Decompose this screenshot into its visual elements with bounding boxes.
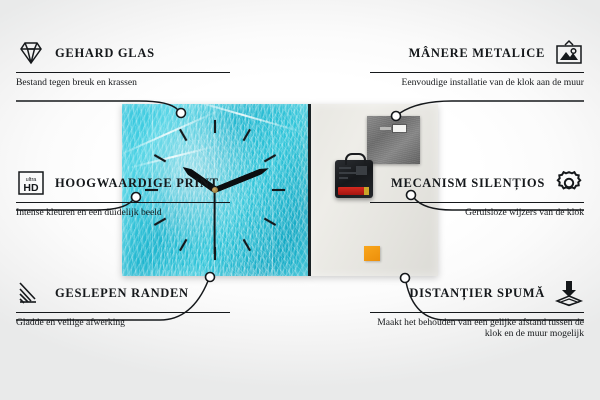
callout-mecanism-silentios: MECANISM SILENȚIOS Geruisloze wijzers va… <box>370 168 584 218</box>
picture-frame-hook-icon <box>554 38 584 68</box>
metal-hanger-plate <box>367 116 420 164</box>
mechanism-hang-loop <box>345 153 366 165</box>
callout-rule <box>370 202 584 203</box>
callout-rule <box>370 72 584 73</box>
hanger-groove <box>380 127 391 130</box>
infographic-canvas: GEHARD GLAS Bestand tegen breuk en krass… <box>0 0 600 400</box>
callout-rule <box>16 72 230 73</box>
hanger-slot <box>393 125 406 132</box>
callout-title: HOOGWAARDIGE PRINT <box>55 176 219 191</box>
callout-title: MÂNERE METALICE <box>409 46 545 61</box>
mechanism-detail-1 <box>339 167 351 169</box>
callout-description: Bestand tegen breuk en krassen <box>16 77 230 89</box>
callout-manere-metalice: MÂNERE METALICE Eenvoudige installatie v… <box>370 38 584 88</box>
silent-clock-mechanism <box>335 160 373 198</box>
callout-title: DISTANȚIER SPUMĂ <box>409 286 545 301</box>
callout-rule <box>16 312 230 313</box>
gear-icon <box>554 168 584 198</box>
callout-title: GEHARD GLAS <box>55 46 155 61</box>
beveled-edges-icon <box>16 278 46 308</box>
ultra-hd-icon: ultra HD <box>16 168 46 198</box>
callout-description: Geruisloze wijzers van de klok <box>370 207 584 219</box>
mechanism-detail-3 <box>339 177 348 179</box>
battery-terminal <box>364 187 369 195</box>
callout-hoogwaardige-print: ultra HD HOOGWAARDIGE PRINT Intense kleu… <box>16 168 230 218</box>
aa-battery <box>338 187 369 195</box>
callout-gehard-glas: GEHARD GLAS Bestand tegen breuk en krass… <box>16 38 230 88</box>
foam-spacer <box>364 246 380 261</box>
callout-description: Intense kleuren en een duidelijk beeld <box>16 207 230 219</box>
callout-description: Maakt het behouden van een gelijke afsta… <box>370 317 584 340</box>
callout-title: MECANISM SILENȚIOS <box>391 176 545 191</box>
diamond-icon <box>16 38 46 68</box>
mechanism-detail-4 <box>356 166 367 175</box>
mechanism-detail-2 <box>339 172 357 174</box>
callout-rule <box>16 202 230 203</box>
svg-text:HD: HD <box>23 182 39 194</box>
callout-geslepen-randen: GESLEPEN RANDEN Gladde en veilige afwerk… <box>16 278 230 328</box>
callout-rule <box>370 312 584 313</box>
callout-title: GESLEPEN RANDEN <box>55 286 189 301</box>
callout-description: Gladde en veilige afwerking <box>16 317 230 329</box>
callout-description: Eenvoudige installatie van de klok aan d… <box>370 77 584 89</box>
callout-distantier-spuma: DISTANȚIER SPUMĂ Maakt het behouden van … <box>370 278 584 340</box>
press-down-pad-icon <box>554 278 584 308</box>
